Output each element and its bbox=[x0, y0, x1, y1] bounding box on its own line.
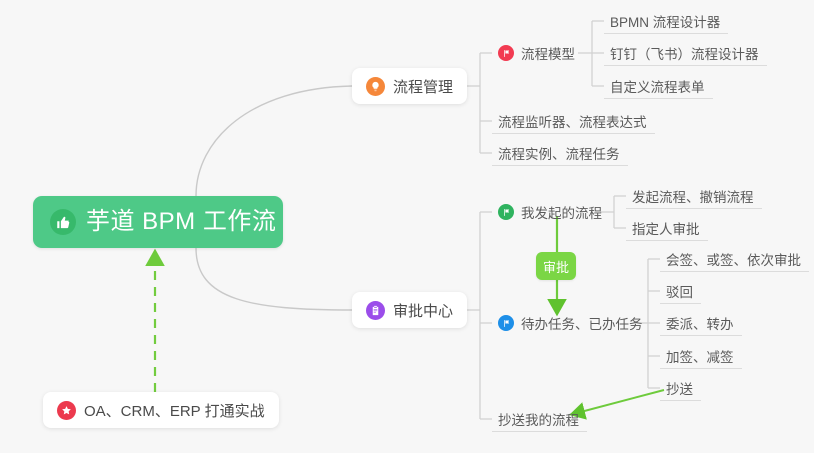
clipboard-icon bbox=[366, 301, 385, 320]
leaf-custom-form[interactable]: 自定义流程表单 bbox=[604, 73, 713, 99]
lightbulb-icon bbox=[366, 77, 385, 96]
leaf-label: 委派、转办 bbox=[666, 313, 734, 333]
leaf-label: 流程监听器、流程表达式 bbox=[498, 111, 647, 131]
leaf-process-listener[interactable]: 流程监听器、流程表达式 bbox=[492, 108, 655, 134]
mindmap-canvas: 芋道 BPM 工作流 流程管理 流程模型 BPMN 流程设计器 钉钉（飞书）流程… bbox=[0, 0, 814, 453]
root-node[interactable]: 芋道 BPM 工作流 bbox=[33, 196, 283, 248]
leaf-label: 自定义流程表单 bbox=[610, 76, 705, 96]
star-icon bbox=[57, 401, 76, 420]
flag-icon bbox=[498, 315, 514, 331]
subnode-todo-done-tasks[interactable]: 待办任务、已办任务 bbox=[492, 310, 651, 336]
leaf-delegate-transfer[interactable]: 委派、转办 bbox=[660, 310, 742, 336]
subnode-label: 我发起的流程 bbox=[521, 202, 602, 222]
branch-label: 流程管理 bbox=[393, 76, 453, 97]
leaf-bpmn-designer[interactable]: BPMN 流程设计器 bbox=[604, 8, 728, 34]
branch-node-approval-center[interactable]: 审批中心 bbox=[352, 292, 467, 328]
leaf-start-cancel-process[interactable]: 发起流程、撤销流程 bbox=[626, 183, 762, 209]
leaf-process-instance[interactable]: 流程实例、流程任务 bbox=[492, 140, 628, 166]
bottom-node-label: OA、CRM、ERP 打通实战 bbox=[84, 400, 265, 421]
leaf-cc-my-process[interactable]: 抄送我的流程 bbox=[492, 406, 587, 432]
leaf-add-remove-sign[interactable]: 加签、减签 bbox=[660, 343, 742, 369]
subnode-label: 待办任务、已办任务 bbox=[521, 313, 643, 333]
root-label: 芋道 BPM 工作流 bbox=[86, 210, 276, 234]
leaf-label: 加签、减签 bbox=[666, 346, 734, 366]
approve-tag: 审批 bbox=[536, 252, 576, 280]
leaf-cc[interactable]: 抄送 bbox=[660, 375, 701, 401]
leaf-dingtalk-designer[interactable]: 钉钉（飞书）流程设计器 bbox=[604, 40, 767, 66]
leaf-reject[interactable]: 驳回 bbox=[660, 278, 701, 304]
subnode-my-started-process[interactable]: 我发起的流程 bbox=[492, 199, 610, 225]
thumbs-up-icon bbox=[50, 209, 76, 235]
leaf-label: 抄送 bbox=[666, 378, 693, 398]
leaf-label: 驳回 bbox=[666, 281, 693, 301]
leaf-label: 会签、或签、依次审批 bbox=[666, 249, 801, 269]
leaf-assignee-approval[interactable]: 指定人审批 bbox=[626, 215, 708, 241]
leaf-countersign[interactable]: 会签、或签、依次审批 bbox=[660, 246, 809, 272]
branch-node-process-management[interactable]: 流程管理 bbox=[352, 68, 467, 104]
leaf-label: 流程实例、流程任务 bbox=[498, 143, 620, 163]
approve-tag-label: 审批 bbox=[543, 257, 569, 276]
subnode-process-model[interactable]: 流程模型 bbox=[492, 40, 583, 66]
flag-icon bbox=[498, 204, 514, 220]
subnode-label: 流程模型 bbox=[521, 43, 575, 63]
leaf-label: 钉钉（飞书）流程设计器 bbox=[610, 43, 759, 63]
branch-label: 审批中心 bbox=[393, 300, 453, 321]
leaf-label: 抄送我的流程 bbox=[498, 409, 579, 429]
flag-icon bbox=[498, 45, 514, 61]
bottom-node-integration[interactable]: OA、CRM、ERP 打通实战 bbox=[43, 392, 279, 428]
leaf-label: 指定人审批 bbox=[632, 218, 700, 238]
leaf-label: 发起流程、撤销流程 bbox=[632, 186, 754, 206]
leaf-label: BPMN 流程设计器 bbox=[610, 11, 720, 31]
